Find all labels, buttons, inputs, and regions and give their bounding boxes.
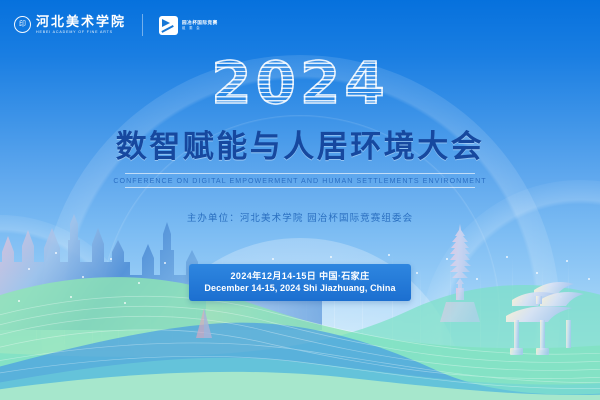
- logo-yuanye-text: 园冶杯国际竞赛 组 委 会: [182, 20, 218, 30]
- logo-hebei-text: 河北美术学院 HEBEI ACADEMY OF FINE ARTS: [36, 16, 126, 34]
- logo-divider: [142, 14, 143, 36]
- subtitle-block: CONFERENCE ON DIGITAL EMPOWERMENT AND HU…: [125, 173, 475, 188]
- organizer-line: 主办单位：河北美术学院 园冶杯国际竞赛组委会: [187, 210, 413, 224]
- logo-yuanye-name-cn: 园冶杯国际竞赛: [182, 20, 218, 26]
- date-location-badge: 2024年12月14-15日 中国·石家庄 December 14-15, 20…: [189, 264, 410, 301]
- poster-center-content: 2024 数智赋能与人居环境大会 CONFERENCE ON DIGITAL E…: [0, 54, 600, 301]
- page-title: 数智赋能与人居环境大会: [116, 130, 485, 164]
- seal-icon: 印: [14, 16, 31, 33]
- logo-hebei-academy[interactable]: 印 河北美术学院 HEBEI ACADEMY OF FINE ARTS: [14, 16, 126, 34]
- logo-hebei-name-cn: 河北美术学院: [36, 16, 126, 30]
- date-en: December 14-15, 2024 Shi Jiazhuang, Chin…: [204, 282, 395, 294]
- subtitle-rule-bottom: [125, 187, 475, 188]
- subtitle-en: CONFERENCE ON DIGITAL EMPOWERMENT AND HU…: [113, 174, 486, 187]
- yuanye-mark-icon: [159, 16, 178, 35]
- logo-yuanye-cup[interactable]: 园冶杯国际竞赛 组 委 会: [159, 16, 218, 35]
- logo-yuanye-name-sub: 组 委 会: [182, 27, 218, 30]
- year-heading: 2024: [211, 54, 388, 112]
- date-cn: 2024年12月14-15日 中国·石家庄: [204, 270, 395, 282]
- header-logos: 印 河北美术学院 HEBEI ACADEMY OF FINE ARTS 园冶杯国…: [14, 14, 218, 36]
- conference-poster: 印 河北美术学院 HEBEI ACADEMY OF FINE ARTS 园冶杯国…: [0, 0, 600, 400]
- logo-hebei-name-en: HEBEI ACADEMY OF FINE ARTS: [36, 31, 126, 35]
